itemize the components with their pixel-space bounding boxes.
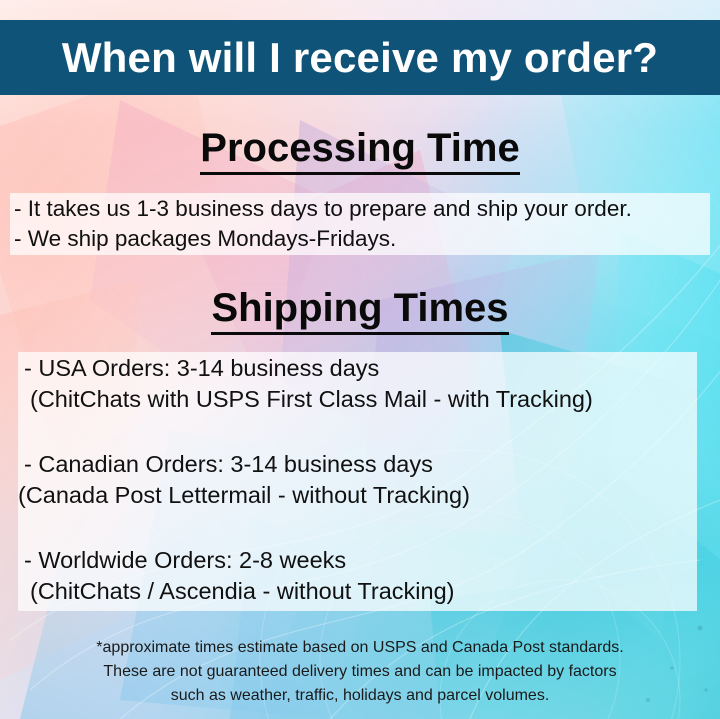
shipping-info-poster: When will I receive my order? Processing… [0,0,720,719]
processing-time-line-2: - We ship packages Mondays-Fridays. [14,226,396,252]
page-title: When will I receive my order? [62,34,658,82]
disclaimer-footnote: *approximate times estimate based on USP… [0,636,720,708]
shipping-canadian-line-1: - Canadian Orders: 3-14 business days [24,451,433,478]
disclaimer-line-2: These are not guaranteed delivery times … [0,660,720,684]
section-heading-shipping-times-label: Shipping Times [211,286,508,335]
shipping-usa-line-2: (ChitChats with USPS First Class Mail - … [30,386,593,413]
section-heading-shipping-times: Shipping Times [0,286,720,331]
section-heading-processing-time-label: Processing Time [200,126,519,175]
section-heading-processing-time: Processing Time [0,126,720,171]
poster-content: When will I receive my order? Processing… [0,0,720,719]
shipping-usa-line-1: - USA Orders: 3-14 business days [24,355,379,382]
disclaimer-line-1: *approximate times estimate based on USP… [0,636,720,660]
shipping-canadian-line-2: (Canada Post Lettermail - without Tracki… [18,482,470,509]
processing-time-line-1: - It takes us 1-3 business days to prepa… [14,196,632,222]
disclaimer-line-3: such as weather, traffic, holidays and p… [0,684,720,708]
shipping-worldwide-line-1: - Worldwide Orders: 2-8 weeks [24,547,346,574]
shipping-worldwide-line-2: (ChitChats / Ascendia - without Tracking… [30,578,454,605]
title-banner: When will I receive my order? [0,20,720,95]
